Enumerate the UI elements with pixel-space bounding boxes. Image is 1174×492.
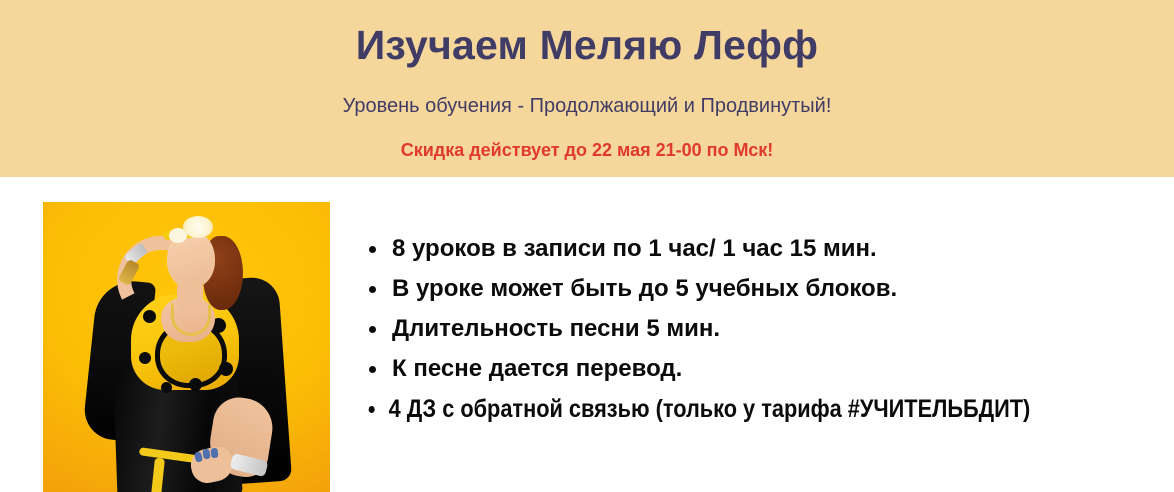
bullet-icon [369,326,376,333]
photo-background [43,202,330,492]
polka-dot [139,352,151,364]
bullet-icon [369,406,375,413]
polka-dot [189,378,202,391]
bullet-icon [369,246,376,253]
polka-dot [143,310,156,323]
instructor-photo [43,202,330,492]
page-subtitle: Уровень обучения - Продолжающий и Продви… [0,74,1174,119]
fingernail-shape [202,448,211,459]
flower-icon [183,216,213,238]
promo-deadline-text: Скидка действует до 22 мая 21-00 по Мск! [0,119,1174,162]
list-item: К песне дается перевод. [366,349,1156,389]
list-item: 8 уроков в записи по 1 час/ 1 час 15 мин… [366,229,1156,269]
dancer-figure [43,202,330,492]
list-item-label: Длительность песни 5 мин. [392,315,720,342]
list-item: В уроке может быть до 5 учебных блоков. [366,269,1156,309]
fingernail-shape [210,448,218,459]
list-item: 4 ДЗ с обратной связью (только у тарифа … [366,389,1053,429]
header-banner: Изучаем Меляю Лефф Уровень обучения - Пр… [0,0,1174,177]
list-item-label: В уроке может быть до 5 учебных блоков. [392,275,897,302]
list-item-label: 4 ДЗ с обратной связью (только у тарифа … [389,395,1031,423]
flower-icon [169,228,187,243]
list-item: Длительность песни 5 мин. [366,309,1156,349]
list-item-label: К песне дается перевод. [392,355,682,382]
page-title: Изучаем Меляю Лефф [0,16,1174,74]
content-area: 8 уроков в записи по 1 час/ 1 час 15 мин… [0,177,1174,467]
bullet-icon [369,366,376,373]
bullet-icon [369,286,376,293]
course-feature-list: 8 уроков в записи по 1 час/ 1 час 15 мин… [366,229,1156,429]
list-item-label: 8 уроков в записи по 1 час/ 1 час 15 мин… [392,235,877,262]
polka-dot [161,382,172,393]
polka-dot [219,362,233,376]
